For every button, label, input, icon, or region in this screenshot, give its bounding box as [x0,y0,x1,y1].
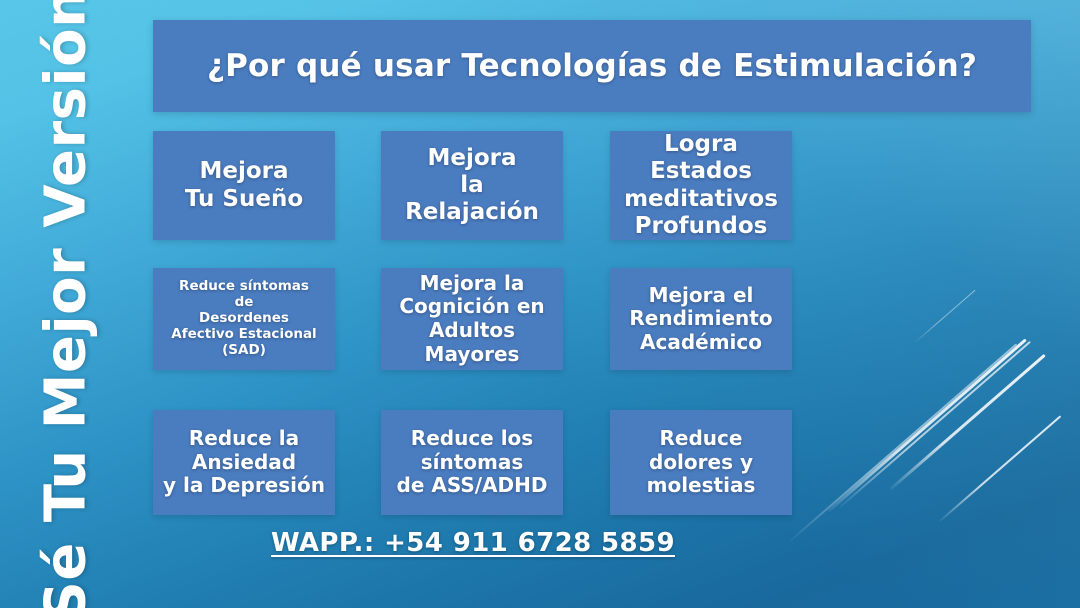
streak-line-icon [915,290,976,344]
benefit-card-label: Mejora la Relajación [405,145,539,226]
benefit-card-reduce-sad[interactable]: Reduce síntomas de Desordenes Afectivo E… [153,268,335,370]
streak-line-icon [889,354,1046,491]
benefit-card-mejora-la-relajacion[interactable]: Mejora la Relajación [381,131,563,240]
streak-line-icon [827,338,1026,512]
benefit-card-label: Reduce la Ansiedad y la Depresión [153,427,335,498]
streak-line-icon [839,341,1030,508]
page-title: ¿Por qué usar Tecnologías de Estimulació… [207,48,977,84]
benefit-card-mejora-rendimiento[interactable]: Mejora el Rendimiento Académico [610,268,792,370]
streak-line-icon [789,343,1016,541]
benefit-card-reduce-ansiedad[interactable]: Reduce la Ansiedad y la Depresión [153,410,335,515]
benefit-card-reduce-dolores[interactable]: Reduce dolores y molestias [610,410,792,515]
benefit-card-reduce-ass-adhd[interactable]: Reduce los síntomas de ASS/ADHD [381,410,563,515]
benefit-card-mejora-tu-sueno[interactable]: Mejora Tu Sueño [153,131,335,240]
vertical-headline-text: Sé Tu Mejor Versión [34,0,99,608]
whatsapp-contact-link[interactable]: WAPP.: +54 911 6728 5859 [271,528,675,558]
diagonal-streaks-decoration [780,220,1080,608]
benefit-card-label: Mejora la Cognición en Adultos Mayores [381,272,563,366]
title-banner: ¿Por qué usar Tecnologías de Estimulació… [153,20,1031,112]
benefit-card-mejora-cognicion[interactable]: Mejora la Cognición en Adultos Mayores [381,268,563,370]
benefit-card-label: Mejora Tu Sueño [185,158,303,212]
benefits-grid: Mejora Tu Sueño Mejora la Relajación Log… [153,131,793,517]
benefit-card-label: Reduce dolores y molestias [647,427,756,498]
benefit-card-label: Reduce los síntomas de ASS/ADHD [397,427,548,498]
benefit-card-label: Logra Estados meditativos Profundos [610,131,792,240]
benefit-card-label: Reduce síntomas de Desordenes Afectivo E… [153,279,335,359]
benefit-card-label: Mejora el Rendimiento Académico [610,284,792,355]
streak-line-icon [939,415,1061,522]
footer-contact: WAPP.: +54 911 6728 5859 [153,528,793,558]
benefit-card-estados-meditativos[interactable]: Logra Estados meditativos Profundos [610,131,792,240]
slide-canvas: Sé Tu Mejor Versión ¿Por qué usar Tecnol… [0,0,1080,608]
vertical-headline: Sé Tu Mejor Versión [0,0,132,608]
